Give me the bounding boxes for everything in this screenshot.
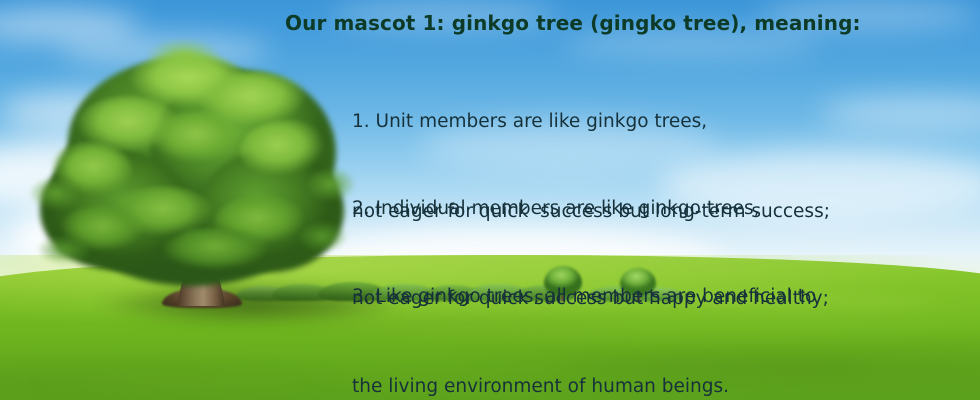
paragraph-3-line-2: the living environment of human beings.: [352, 372, 816, 400]
mascot-banner: Our mascot 1: ginkgo tree (gingko tree),…: [0, 0, 980, 400]
tree-foliage-highlight: [160, 228, 270, 276]
tree-foliage-edge: [300, 222, 352, 254]
banner-title: Our mascot 1: ginkgo tree (gingko tree),…: [285, 11, 861, 35]
tree-foliage-edge: [34, 236, 90, 266]
paragraph-1-line-1: 1. Unit members are like ginkgo trees,: [352, 107, 830, 137]
tree-foliage-highlight: [150, 112, 246, 168]
paragraph-3-line-1: 3. Like ginkgo trees, all members are be…: [352, 282, 816, 312]
meaning-paragraph-3: 3. Like ginkgo trees, all members are be…: [352, 222, 816, 400]
tree-foliage-edge: [146, 38, 222, 74]
paragraph-2-line-1: 2. Individual members are like ginkgo tr…: [352, 194, 829, 224]
tree-foliage-edge: [26, 178, 80, 212]
